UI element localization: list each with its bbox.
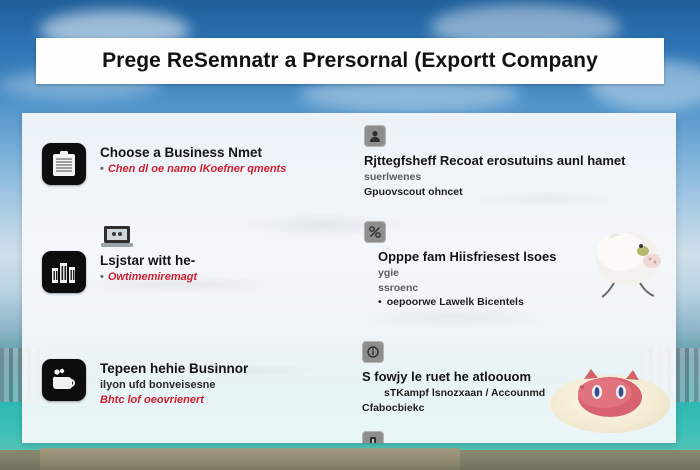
list-item[interactable]: Lsjstar witt he- Owtimemiremagt <box>42 251 197 293</box>
percent-chip-icon <box>364 221 386 243</box>
laptop-icon <box>100 225 134 251</box>
list-item-title: Opppe fam Hiisfriesest lsoes <box>378 249 556 266</box>
list-item[interactable]: Choose a Business Nmet Chen dl oe namo l… <box>42 143 286 185</box>
page-title: Prege ReSemnatr a Prersornal (Exportt Co… <box>102 49 598 73</box>
right-column: Rjttegfsheff Recoat erosutuins aunl hame… <box>358 113 676 443</box>
clipboard-document-icon <box>42 143 86 185</box>
list-item[interactable]: Tepeen hehie Businnor ilyon ufd bonveise… <box>42 359 248 408</box>
main-content-panel: Choose a Business Nmet Chen dl oe namo l… <box>22 113 676 443</box>
list-item-text: Tepeen hehie Businnor ilyon ufd bonveise… <box>100 359 248 408</box>
two-column-layout: Choose a Business Nmet Chen dl oe namo l… <box>22 113 676 443</box>
list-item-title: Tepeen hehie Businnor <box>100 361 248 378</box>
white-piggy-bank-image <box>588 221 672 305</box>
user-badge-icon <box>364 125 386 147</box>
list-item[interactable]: S fowjy le ruet he atloouom sTKampf lsno… <box>362 341 545 415</box>
screenshot-stage: Prege ReSemnatr a Prersornal (Exportt Co… <box>0 0 700 470</box>
list-item-title: Choose a Business Nmet <box>100 145 286 162</box>
list-item-line: suerlwenes <box>364 170 625 185</box>
left-column: Choose a Business Nmet Chen dl oe namo l… <box>22 113 358 443</box>
title-bar: Prege ReSemnatr a Prersornal (Exportt Co… <box>36 38 664 84</box>
list-item-title: Rjttegfsheff Recoat erosutuins aunl hame… <box>364 153 625 170</box>
list-item[interactable]: Opppe fam Hiisfriesest lsoes ygie ssroen… <box>364 221 556 310</box>
list-item-line: ssroenc <box>378 281 556 296</box>
money-bag-icon <box>42 359 86 401</box>
pink-piggy-bank-image <box>550 357 670 435</box>
list-item-line: Gpuovscout ohncet <box>364 185 625 200</box>
list-item-subtitle: Bhtc lof oeovrienert <box>100 393 248 408</box>
list-item-title: Lsjstar witt he- <box>100 253 197 270</box>
list-item-line: oepoorwe Lawelk Bicentels <box>378 295 556 310</box>
list-item-subtitle: Owtimemiremagt <box>100 270 197 285</box>
list-item-text: Choose a Business Nmet Chen dl oe namo l… <box>100 143 286 177</box>
info-chip-icon <box>362 341 384 363</box>
list-item-line: sTKampf lsnozxaan / Accounmd <box>384 386 545 401</box>
list-item[interactable]: Rjttegfsheff Recoat erosutuins aunl hame… <box>364 125 625 199</box>
list-item-title: S fowjy le ruet he atloouom <box>362 369 545 386</box>
list-item-subtitle: Chen dl oe namo lKoefner qments <box>100 162 286 177</box>
list-item-line: Cfabocbiekc <box>362 401 545 416</box>
list-item-note: ilyon ufd bonveisesne <box>100 378 248 393</box>
list-item-line: ygie <box>378 266 556 281</box>
beach-band <box>40 448 460 470</box>
office-building-icon <box>42 251 86 293</box>
dollar-chip-icon <box>362 431 384 443</box>
list-item-text: Lsjstar witt he- Owtimemiremagt <box>100 251 197 285</box>
